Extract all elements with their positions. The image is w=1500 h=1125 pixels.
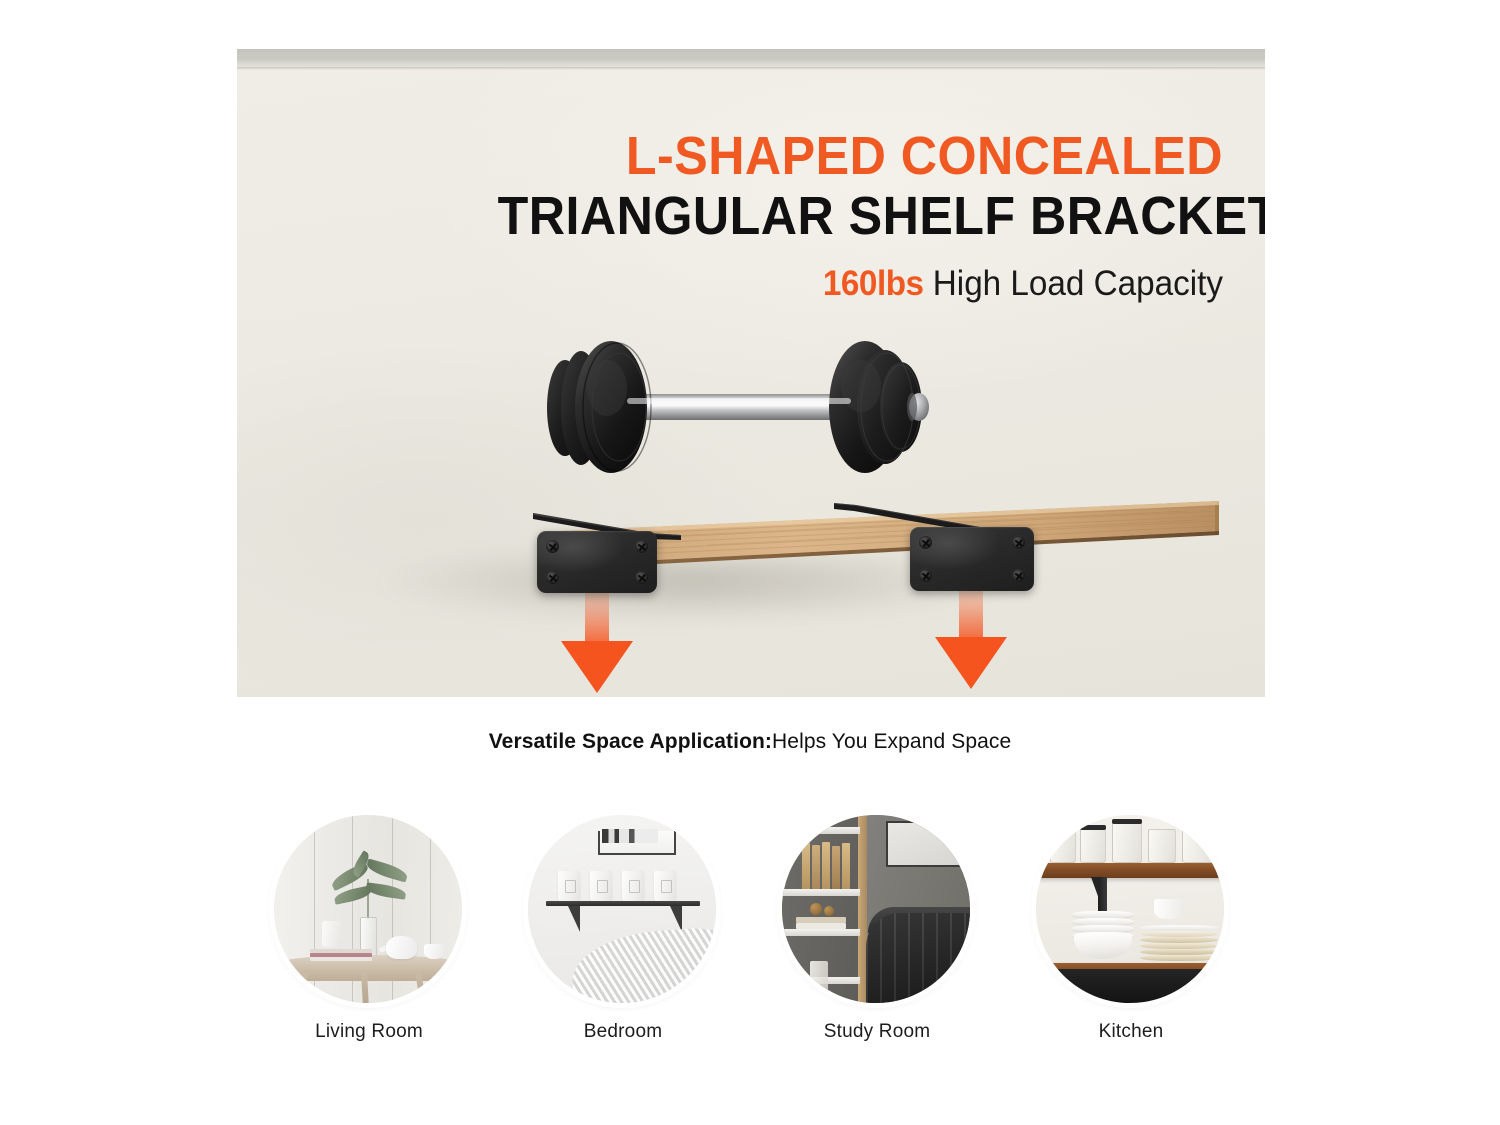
- kt-bowl: [1072, 925, 1134, 932]
- st-book: [802, 843, 810, 889]
- lr-books: [310, 950, 372, 961]
- headline-secondary: TRIANGULAR SHELF BRACKET: [498, 185, 1223, 249]
- bedroom-illustration: [528, 815, 716, 1003]
- scene-kitchen[interactable]: Kitchen: [1036, 815, 1226, 1043]
- product-marketing-page: L-SHAPED CONCEALED TRIANGULAR SHELF BRAC…: [0, 0, 1500, 1125]
- kt-glass-jar: [1080, 825, 1106, 863]
- headline-primary: L-SHAPED CONCEALED: [498, 127, 1223, 185]
- floating-shelf: [307, 479, 1219, 589]
- scene-bedroom[interactable]: Bedroom: [528, 815, 718, 1043]
- bracket-screw: [546, 571, 559, 584]
- kt-plate: [1140, 955, 1218, 961]
- section-caption-normal: Helps You Expand Space: [772, 730, 1011, 753]
- kt-counter: [1036, 969, 1224, 1003]
- bd-mug: [654, 871, 676, 902]
- scene-label-study-room: Study Room: [782, 1021, 972, 1043]
- st-book: [842, 843, 850, 889]
- bracket-screw: [1012, 536, 1025, 549]
- kt-glass-jar: [1182, 823, 1216, 863]
- st-shelf: [782, 929, 860, 936]
- kt-glass-jar: [1050, 831, 1076, 863]
- kt-mug: [1154, 899, 1184, 919]
- st-shelf: [782, 827, 860, 834]
- bracket-screw: [546, 540, 559, 553]
- st-stacked-book: [796, 917, 846, 923]
- load-capacity-line: 160lbs High Load Capacity: [482, 263, 1223, 305]
- scene-gallery: Living Room: [0, 815, 1500, 1075]
- bracket-screw: [1012, 569, 1025, 582]
- load-direction-arrow-right: [932, 575, 1010, 695]
- kt-plate-stack: [1140, 919, 1218, 961]
- st-shelf: [782, 889, 860, 896]
- hero-text-block: L-SHAPED CONCEALED TRIANGULAR SHELF BRAC…: [443, 127, 1223, 305]
- scene-label-kitchen: Kitchen: [1036, 1021, 1226, 1043]
- kt-glass-jar: [1148, 829, 1176, 863]
- lr-pot: [322, 921, 342, 947]
- scene-study-room[interactable]: Study Room: [782, 815, 972, 1043]
- st-book: [812, 845, 820, 889]
- st-jar: [810, 961, 828, 991]
- lr-table-leg: [361, 973, 369, 1003]
- ceiling-strip: [237, 49, 1265, 67]
- scene-image-living-room: [274, 815, 462, 1003]
- bracket-screw: [919, 569, 932, 582]
- section-caption: Versatile Space Application:Helps You Ex…: [0, 730, 1500, 754]
- st-wall-frame: [886, 821, 970, 867]
- kt-glass-jar: [1112, 819, 1142, 863]
- bracket-screw: [635, 571, 648, 584]
- scene-living-room[interactable]: Living Room: [274, 815, 464, 1043]
- shelf-bracket-left: [537, 531, 657, 593]
- st-book: [822, 842, 830, 889]
- scene-image-study-room: [782, 815, 970, 1003]
- bd-picture-frame: [602, 829, 658, 843]
- dumbbell-icon: [535, 336, 945, 481]
- section-caption-bold: Versatile Space Application:: [489, 730, 772, 753]
- bracket-screw: [919, 536, 932, 549]
- kt-bowl: [1072, 918, 1134, 925]
- scene-image-kitchen: [1036, 815, 1224, 1003]
- st-book-row: [800, 841, 858, 889]
- kt-large-bowl: [1074, 933, 1132, 959]
- scene-image-bedroom: [528, 815, 716, 1003]
- kt-bowl: [1072, 911, 1134, 918]
- hero-banner: L-SHAPED CONCEALED TRIANGULAR SHELF BRAC…: [237, 49, 1265, 697]
- bd-shelf-bracket: [568, 906, 580, 932]
- st-ornament: [824, 906, 834, 916]
- bd-mug: [558, 871, 580, 902]
- lr-book: [310, 953, 372, 957]
- lr-book: [310, 957, 372, 961]
- bd-shelf-bracket: [670, 906, 682, 932]
- scene-label-bedroom: Bedroom: [528, 1021, 718, 1043]
- kitchen-illustration: [1036, 815, 1224, 1003]
- st-stacked-book: [796, 923, 846, 929]
- kt-floating-shelf-top: [1036, 863, 1224, 878]
- bd-mug: [590, 871, 612, 902]
- living-room-illustration: [274, 815, 462, 1003]
- st-office-chair: [866, 913, 970, 1003]
- kt-jar-lid: [1080, 825, 1106, 830]
- lr-book: [310, 949, 372, 953]
- st-ornament: [810, 903, 822, 915]
- shelf-bracket-right: [910, 527, 1034, 591]
- load-direction-arrow-left: [558, 579, 636, 697]
- kt-jar-lid: [1112, 819, 1142, 824]
- load-capacity-text: High Load Capacity: [924, 264, 1223, 303]
- st-book: [832, 846, 840, 889]
- bd-mug: [622, 871, 644, 902]
- study-room-illustration: [782, 815, 970, 1003]
- bracket-screw: [635, 540, 648, 553]
- lr-teapot: [386, 936, 417, 959]
- load-capacity-value: 160lbs: [823, 264, 924, 303]
- scene-label-living-room: Living Room: [274, 1021, 464, 1043]
- kt-bowl-stack: [1072, 911, 1134, 959]
- lr-cup: [424, 944, 444, 959]
